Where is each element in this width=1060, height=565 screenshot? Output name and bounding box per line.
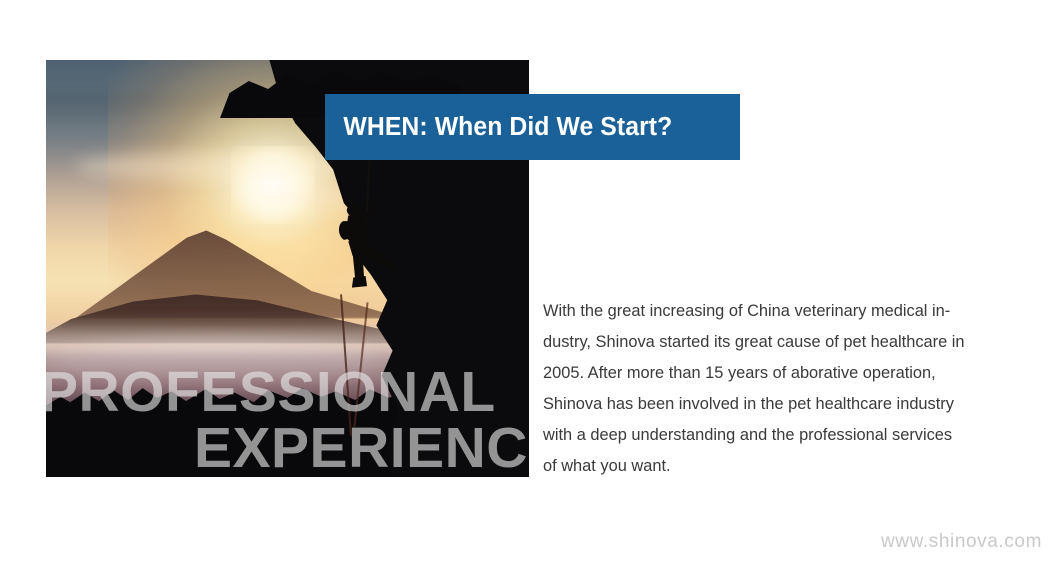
wordmark-line-2: EXPERIENCE	[194, 421, 529, 477]
climber-silhouette	[326, 198, 408, 306]
title-banner: WHEN: When Did We Start?	[325, 94, 740, 160]
slide-canvas: PROFESSIONAL EXPERIENCE WHEN: When Did W…	[0, 0, 1060, 565]
cloud-wisp	[75, 152, 355, 181]
wordmark-line-1: PROFESSIONAL	[46, 365, 529, 421]
slide-title: WHEN: When Did We Start?	[325, 113, 672, 142]
footer-website-url: www.shinova.com	[881, 531, 1042, 553]
body-paragraph: With the great increasing of China veter…	[543, 296, 1013, 482]
photo-overlay-wordmark: PROFESSIONAL EXPERIENCE	[46, 365, 529, 477]
